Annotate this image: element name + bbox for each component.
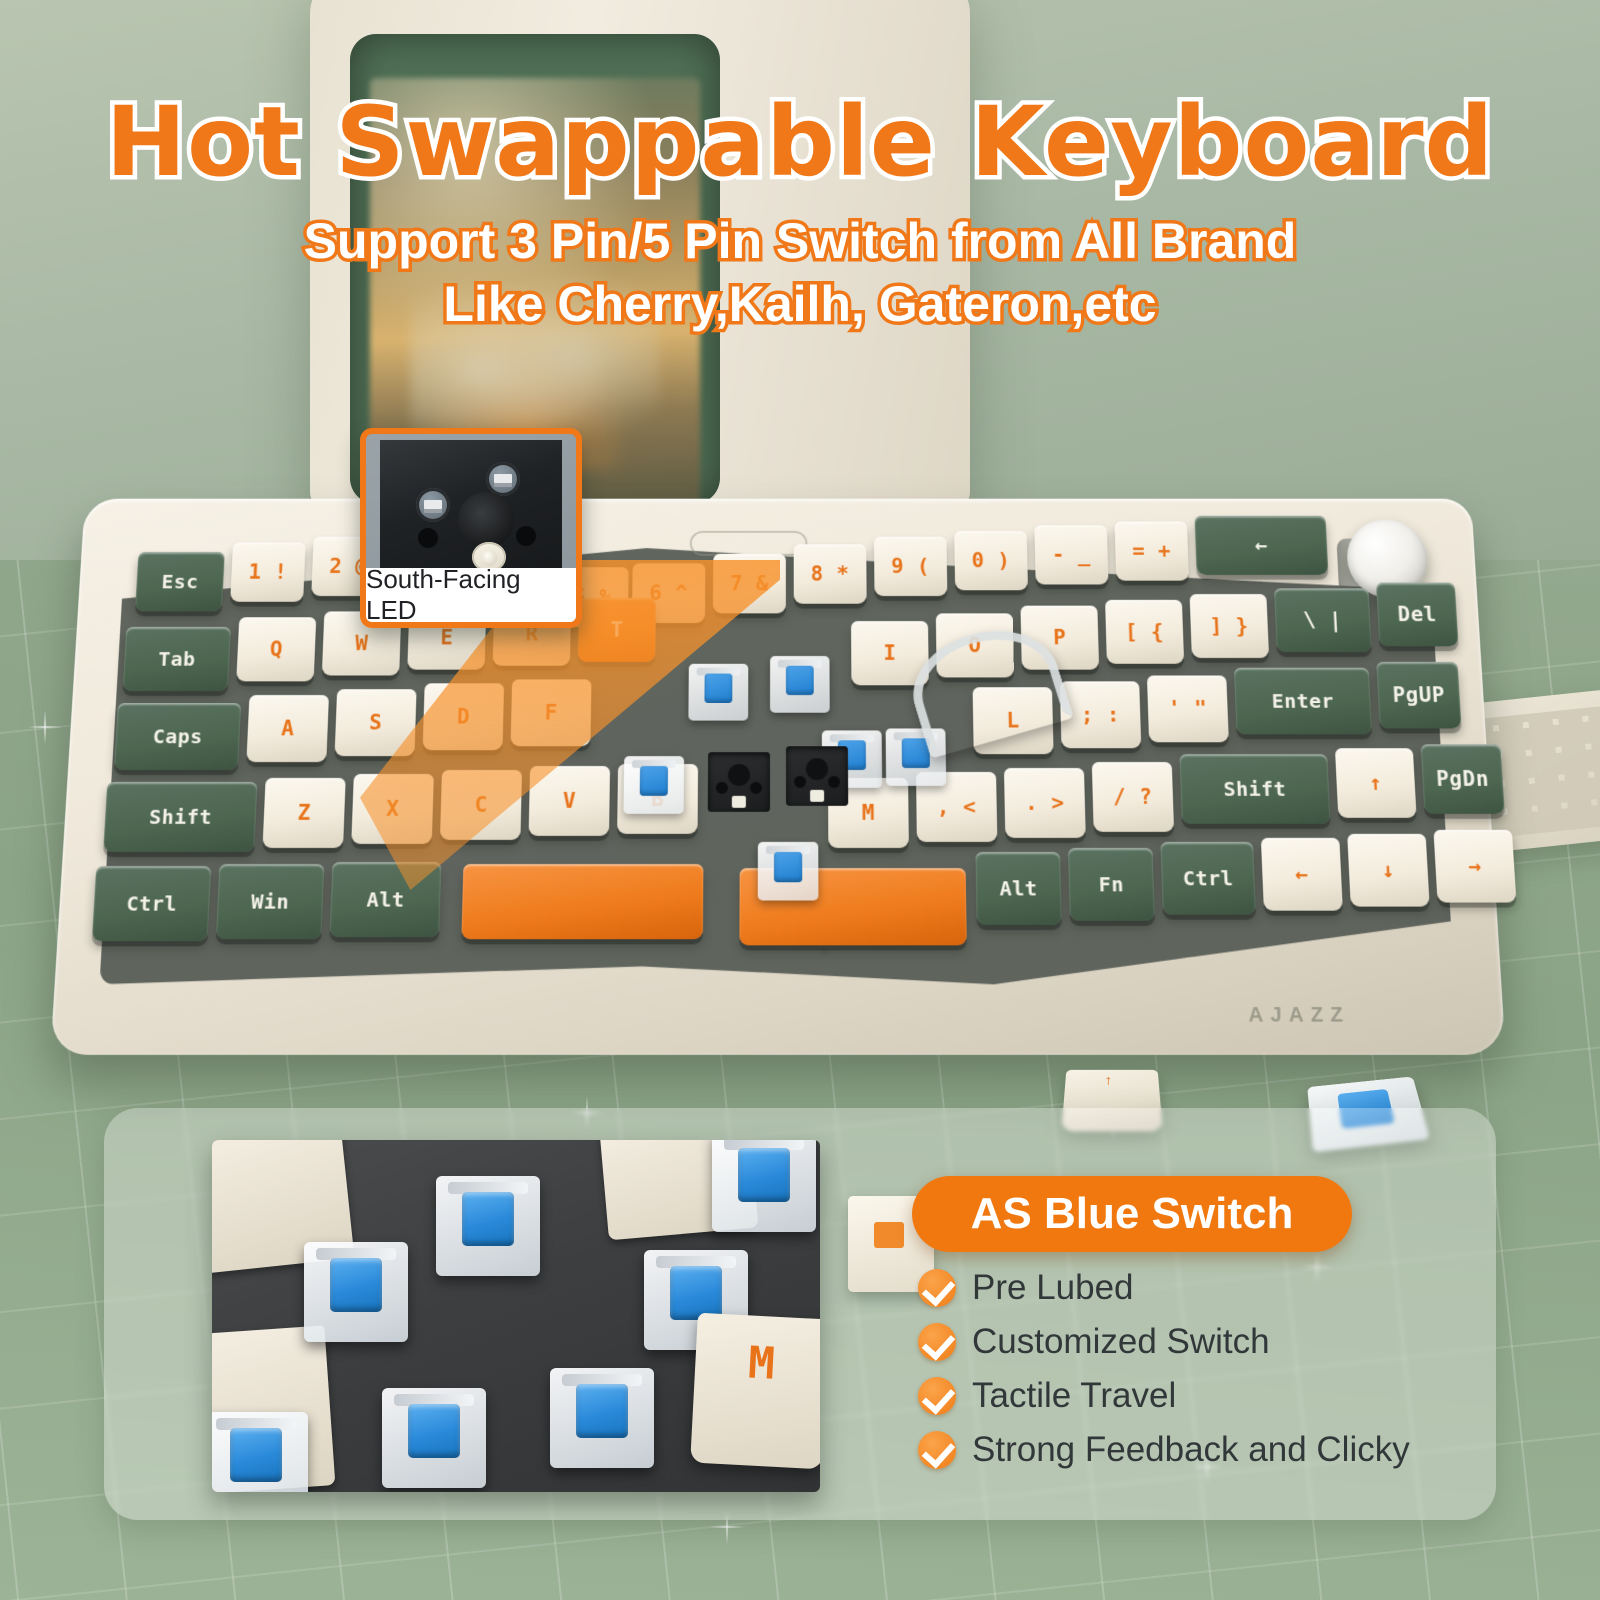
exposed-switch (770, 656, 830, 713)
key-arrow-left[interactable]: ← (1261, 838, 1343, 911)
subtitle-line-2: Like Cherry,Kailh, Gateron,etc (0, 274, 1600, 335)
blue-switch (382, 1388, 486, 1488)
south-facing-led-callout: South-Facing LED (360, 428, 582, 628)
socket-pin-icon (416, 488, 450, 522)
key-quote[interactable]: ' " (1147, 676, 1229, 743)
switch-socket-photo (380, 440, 562, 574)
socket-hole (516, 526, 536, 546)
key-tab[interactable]: Tab (123, 627, 231, 691)
exposed-switch (688, 664, 748, 721)
key-backspace[interactable]: ← (1195, 516, 1329, 575)
key-slash[interactable]: / ? (1092, 762, 1174, 832)
key-right-alt[interactable]: Alt (975, 852, 1061, 925)
feature-label: Tactile Travel (972, 1376, 1176, 1416)
blue-switch (712, 1140, 816, 1232)
empty-switch-socket (708, 752, 770, 812)
key-spacebar-left[interactable] (461, 864, 703, 939)
exposed-switch (623, 756, 684, 814)
key-arrow-up[interactable]: ↑ (1335, 748, 1417, 818)
key-left-bracket[interactable]: [ { (1105, 600, 1184, 664)
as-blue-switch-badge: AS Blue Switch (912, 1176, 1352, 1252)
feature-list: Pre Lubed Customized Switch Tactile Trav… (918, 1268, 1458, 1484)
headline-block: Hot Swappable Keyboard Support 3 Pin/5 P… (0, 92, 1600, 335)
key-1[interactable]: 1 ! (230, 542, 305, 601)
empty-switch-socket (786, 746, 848, 806)
key-8[interactable]: 8 * (794, 544, 867, 603)
key-win[interactable]: Win (216, 864, 325, 939)
blue-switch (550, 1368, 654, 1468)
subtitle-line-1: Support 3 Pin/5 Pin Switch from All Bran… (0, 211, 1600, 272)
keyboard-product: AJAZZ Esc 1 ! 2 @ 5 % 6 ^ 7 & 8 * 9 ( 0 … (60, 470, 1500, 1070)
key-period[interactable]: . > (1004, 768, 1086, 838)
check-icon (918, 1323, 956, 1361)
blue-switch (304, 1242, 408, 1342)
key-equal[interactable]: = + (1115, 521, 1190, 580)
feature-label: Customized Switch (972, 1322, 1270, 1362)
check-icon (918, 1377, 956, 1415)
keycap-m: M (690, 1313, 820, 1470)
key-caps[interactable]: Caps (114, 703, 241, 770)
check-icon (918, 1431, 956, 1469)
check-icon (918, 1269, 956, 1307)
key-backslash[interactable]: \ | (1274, 588, 1372, 652)
key-q[interactable]: Q (236, 617, 316, 681)
socket-center-hole (458, 492, 514, 548)
blue-switch (212, 1412, 308, 1492)
key-right-shift[interactable]: Shift (1179, 754, 1330, 824)
blue-switch (436, 1176, 540, 1276)
key-left-ctrl[interactable]: Ctrl (92, 866, 211, 941)
key-esc[interactable]: Esc (135, 552, 225, 612)
feature-label: Pre Lubed (972, 1268, 1134, 1308)
exposed-switch (758, 842, 819, 901)
key-arrow-right[interactable]: → (1433, 830, 1516, 903)
feature-item: Tactile Travel (918, 1376, 1458, 1416)
socket-hole (418, 528, 438, 548)
feature-label: Strong Feedback and Clicky (972, 1430, 1410, 1470)
key-z[interactable]: Z (262, 778, 345, 848)
page-title: Hot Swappable Keyboard (0, 92, 1600, 193)
key-fn[interactable]: Fn (1068, 848, 1155, 921)
feature-item: Pre Lubed (918, 1268, 1458, 1308)
key-minus[interactable]: - _ (1034, 525, 1108, 584)
keyboard-case: AJAZZ Esc 1 ! 2 @ 5 % 6 ^ 7 & 8 * 9 ( 0 … (50, 499, 1505, 1055)
key-pgup[interactable]: PgUP (1376, 662, 1461, 729)
key-0[interactable]: 0 ) (954, 531, 1028, 590)
brand-logo: AJAZZ (1248, 1004, 1351, 1028)
key-right-ctrl[interactable]: Ctrl (1160, 842, 1256, 915)
key-a[interactable]: A (246, 695, 329, 762)
key-arrow-down[interactable]: ↓ (1347, 834, 1430, 907)
key-left-shift[interactable]: Shift (103, 782, 257, 852)
key-pgdn[interactable]: PgDn (1421, 744, 1505, 814)
socket-pin-icon (486, 462, 520, 496)
key-del[interactable]: Del (1376, 583, 1459, 647)
keyboard-top-badge (690, 531, 808, 556)
feature-item: Customized Switch (918, 1322, 1458, 1362)
callout-label: South-Facing LED (366, 568, 576, 622)
key-9[interactable]: 9 ( (874, 537, 947, 596)
feature-item: Strong Feedback and Clicky (918, 1430, 1458, 1470)
key-enter[interactable]: Enter (1234, 668, 1372, 735)
blue-switch-closeup-photo: M (212, 1140, 820, 1492)
key-right-bracket[interactable]: ] } (1190, 594, 1270, 658)
